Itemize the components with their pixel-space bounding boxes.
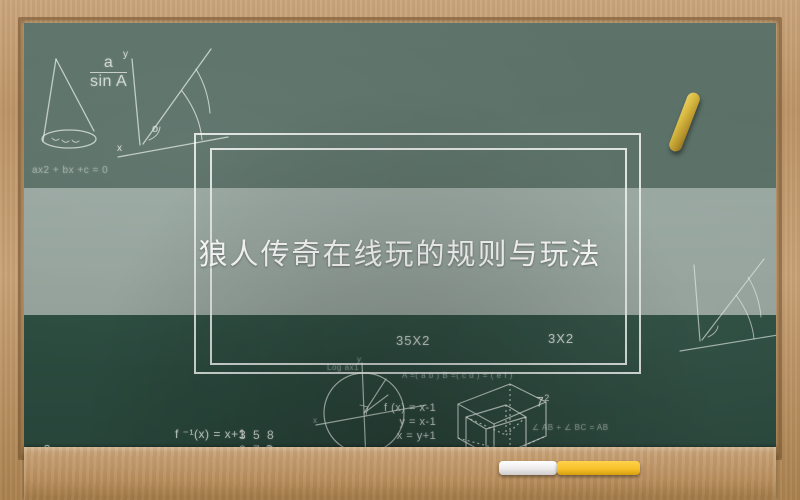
chalk-piece-white [499,461,557,475]
board-bottom-shade [24,315,776,447]
chalk-piece-yellow [557,461,640,475]
chalkboard-surface: a sin A y x o ax2 + bx +c = 0 [24,23,776,447]
board-top-shade [24,23,776,323]
chalkboard-wooden-frame: a sin A y x o ax2 + bx +c = 0 [0,0,800,500]
chalk-ledge-tray [24,447,776,500]
